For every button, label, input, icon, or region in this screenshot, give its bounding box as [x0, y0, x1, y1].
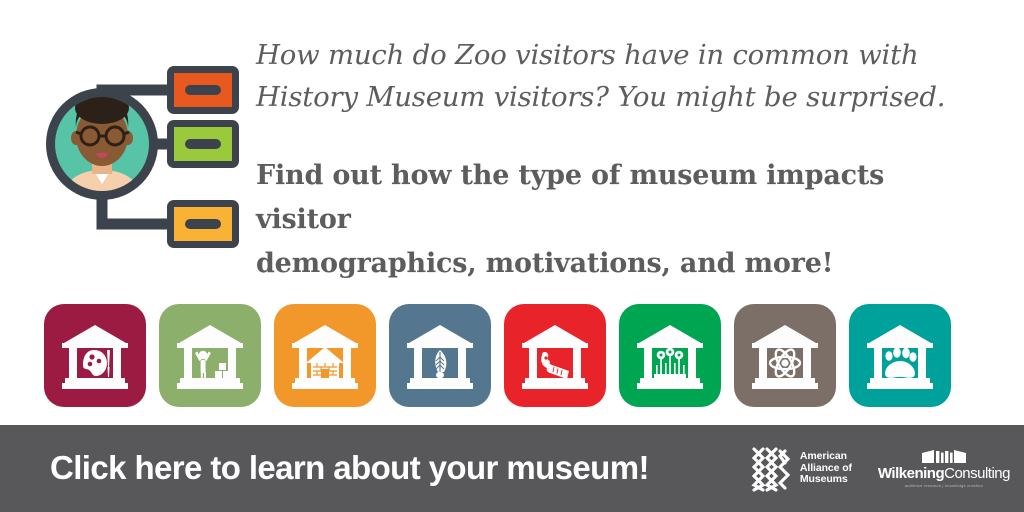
banner-top-section: How much do Zoo visitors have in common …: [0, 0, 1024, 288]
wilkening-tagline: audience research | knowledge curation: [905, 483, 983, 489]
headline-copy: How much do Zoo visitors have in common …: [256, 34, 986, 286]
tile-childrens-museum[interactable]: [159, 304, 261, 407]
cta-line-2: demographics, motivations, and more!: [256, 248, 833, 279]
tile-art-museum[interactable]: [44, 304, 146, 407]
segment-node-orange: [167, 66, 239, 114]
wilkening-consulting-logo[interactable]: WilkeningConsulting audience research | …: [866, 448, 1016, 489]
audience-segmentation-diagram: [30, 28, 242, 260]
lede-paragraph: How much do Zoo visitors have in common …: [256, 34, 986, 118]
tile-botanical-garden[interactable]: [619, 304, 721, 407]
wc-name-bold: Wilkening: [878, 465, 944, 482]
cta-line-1: Find out how the type of museum impacts …: [256, 160, 884, 235]
lede-line-1: How much do Zoo visitors have in common …: [256, 39, 919, 71]
wilkening-books-mark: [920, 448, 968, 465]
footer-cta-bar[interactable]: Click here to learn about your museum! A…: [0, 425, 1024, 512]
aam-lattice-mark: [749, 445, 793, 493]
aam-logo-text: American Alliance of Museums: [800, 451, 852, 486]
banner-ad[interactable]: How much do Zoo visitors have in common …: [0, 0, 1024, 512]
footer-logos: American Alliance of Museums W: [749, 425, 1016, 512]
museum-type-tile-row: [0, 303, 1024, 408]
paw-icon: [861, 317, 939, 395]
footer-cta-text[interactable]: Click here to learn about your museum!: [50, 445, 649, 491]
quill-icon: [401, 317, 479, 395]
tile-historic-house[interactable]: [274, 304, 376, 407]
flowers-icon: [631, 317, 709, 395]
cta-paragraph: Find out how the type of museum impacts …: [256, 154, 986, 286]
wilkening-wordmark: WilkeningConsulting: [878, 465, 1010, 482]
visitor-avatar: [46, 88, 158, 213]
wc-name-light: Consulting: [944, 465, 1010, 482]
child-icon: [171, 317, 249, 395]
segment-node-amber: [167, 200, 239, 248]
house-icon: [286, 317, 364, 395]
tile-zoo[interactable]: [849, 304, 951, 407]
american-alliance-of-museums-logo[interactable]: American Alliance of Museums: [749, 445, 866, 493]
dinosaur-icon: [516, 317, 594, 395]
atom-icon: [746, 317, 824, 395]
palette-icon: [56, 317, 134, 395]
tile-history-museum[interactable]: [389, 304, 491, 407]
aam-line-3: Museums: [800, 474, 852, 486]
lede-line-2: History Museum visitors? You might be su…: [256, 81, 945, 113]
segment-node-lime: [167, 120, 239, 168]
tile-science-museum[interactable]: [734, 304, 836, 407]
tile-natural-history[interactable]: [504, 304, 606, 407]
